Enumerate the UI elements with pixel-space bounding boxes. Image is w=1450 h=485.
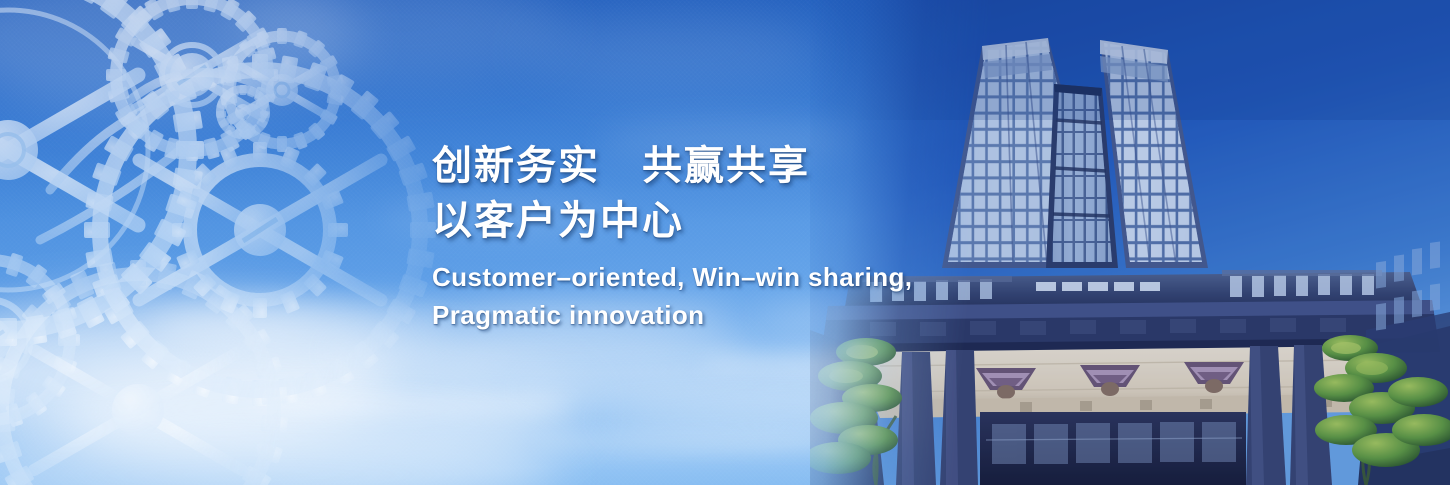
- hero-banner: 创新务实 共赢共享 以客户为中心 Customer–oriented, Win–…: [0, 0, 1450, 485]
- banner-copy: 创新务实 共赢共享 以客户为中心 Customer–oriented, Win–…: [432, 139, 992, 334]
- subtitle-line-1: Customer–oriented, Win–win sharing,: [432, 258, 992, 296]
- headline-line-2: 以客户为中心: [432, 194, 992, 249]
- headline-line-1: 创新务实 共赢共享: [432, 139, 992, 194]
- gear-cluster-decoration: [0, 0, 490, 485]
- subtitle-line-2: Pragmatic innovation: [432, 296, 992, 334]
